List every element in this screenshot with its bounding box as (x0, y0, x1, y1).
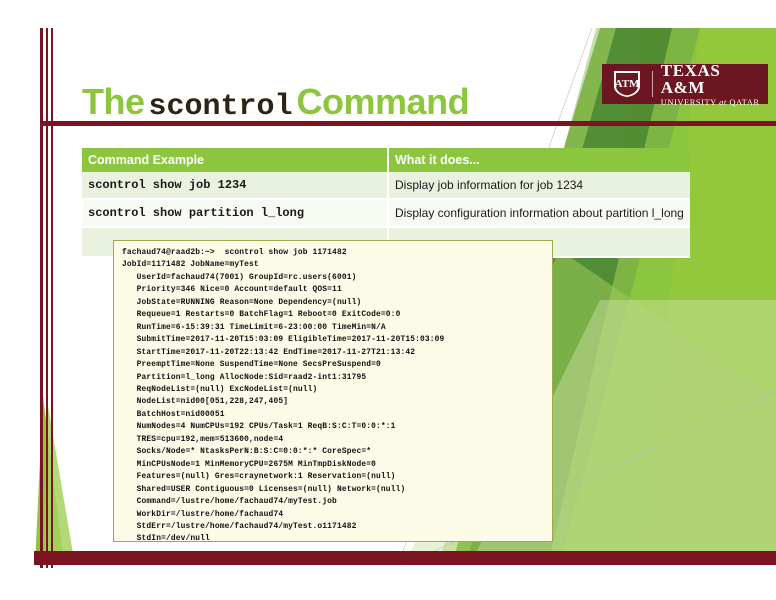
logo-wordmark-sub-post: QATAR (729, 97, 759, 107)
title-suffix: Command (297, 81, 470, 122)
logo-divider (652, 71, 653, 97)
title-command-name: scontrol (145, 90, 297, 124)
logo-wordmark-sub: UNIVERSITY at QATAR (661, 98, 768, 107)
logo-wordmark: TEXAS A&M UNIVERSITY at QATAR (661, 62, 768, 107)
title-prefix: The (82, 81, 145, 122)
logo-wordmark-main: TEXAS A&M (661, 62, 768, 96)
texas-am-qatar-logo: ATM TEXAS A&M UNIVERSITY at QATAR (602, 64, 768, 104)
left-rule-1 (40, 28, 43, 568)
table-row: scontrol show job 1234 Display job infor… (82, 172, 690, 199)
svg-text:ATM: ATM (614, 78, 639, 90)
column-header-what-it-does: What it does... (388, 148, 690, 172)
slide-canvas: ThescontrolCommand ATM TEXAS A&M UNIVERS… (0, 0, 776, 600)
table-header-row: Command Example What it does... (82, 148, 690, 172)
terminal-output-box: fachaud74@raad2b:~> scontrol show job 11… (113, 240, 553, 542)
column-header-command-example: Command Example (82, 148, 388, 172)
cell-description-1: Display configuration information about … (388, 199, 690, 227)
left-rule-2 (46, 28, 48, 568)
atm-shield-icon: ATM (610, 69, 644, 99)
logo-wordmark-sub-ital: at (719, 97, 727, 107)
bottom-rule (34, 551, 776, 565)
logo-wordmark-sub-pre: UNIVERSITY (661, 97, 717, 107)
cell-command-1: scontrol show partition l_long (82, 199, 388, 227)
page-title: ThescontrolCommand (82, 82, 469, 122)
cell-description-0: Display job information for job 1234 (388, 172, 690, 199)
left-rule-3 (51, 28, 53, 568)
table-row: scontrol show partition l_long Display c… (82, 199, 690, 227)
terminal-output-text: fachaud74@raad2b:~> scontrol show job 11… (122, 247, 544, 542)
cell-command-0: scontrol show job 1234 (82, 172, 388, 199)
